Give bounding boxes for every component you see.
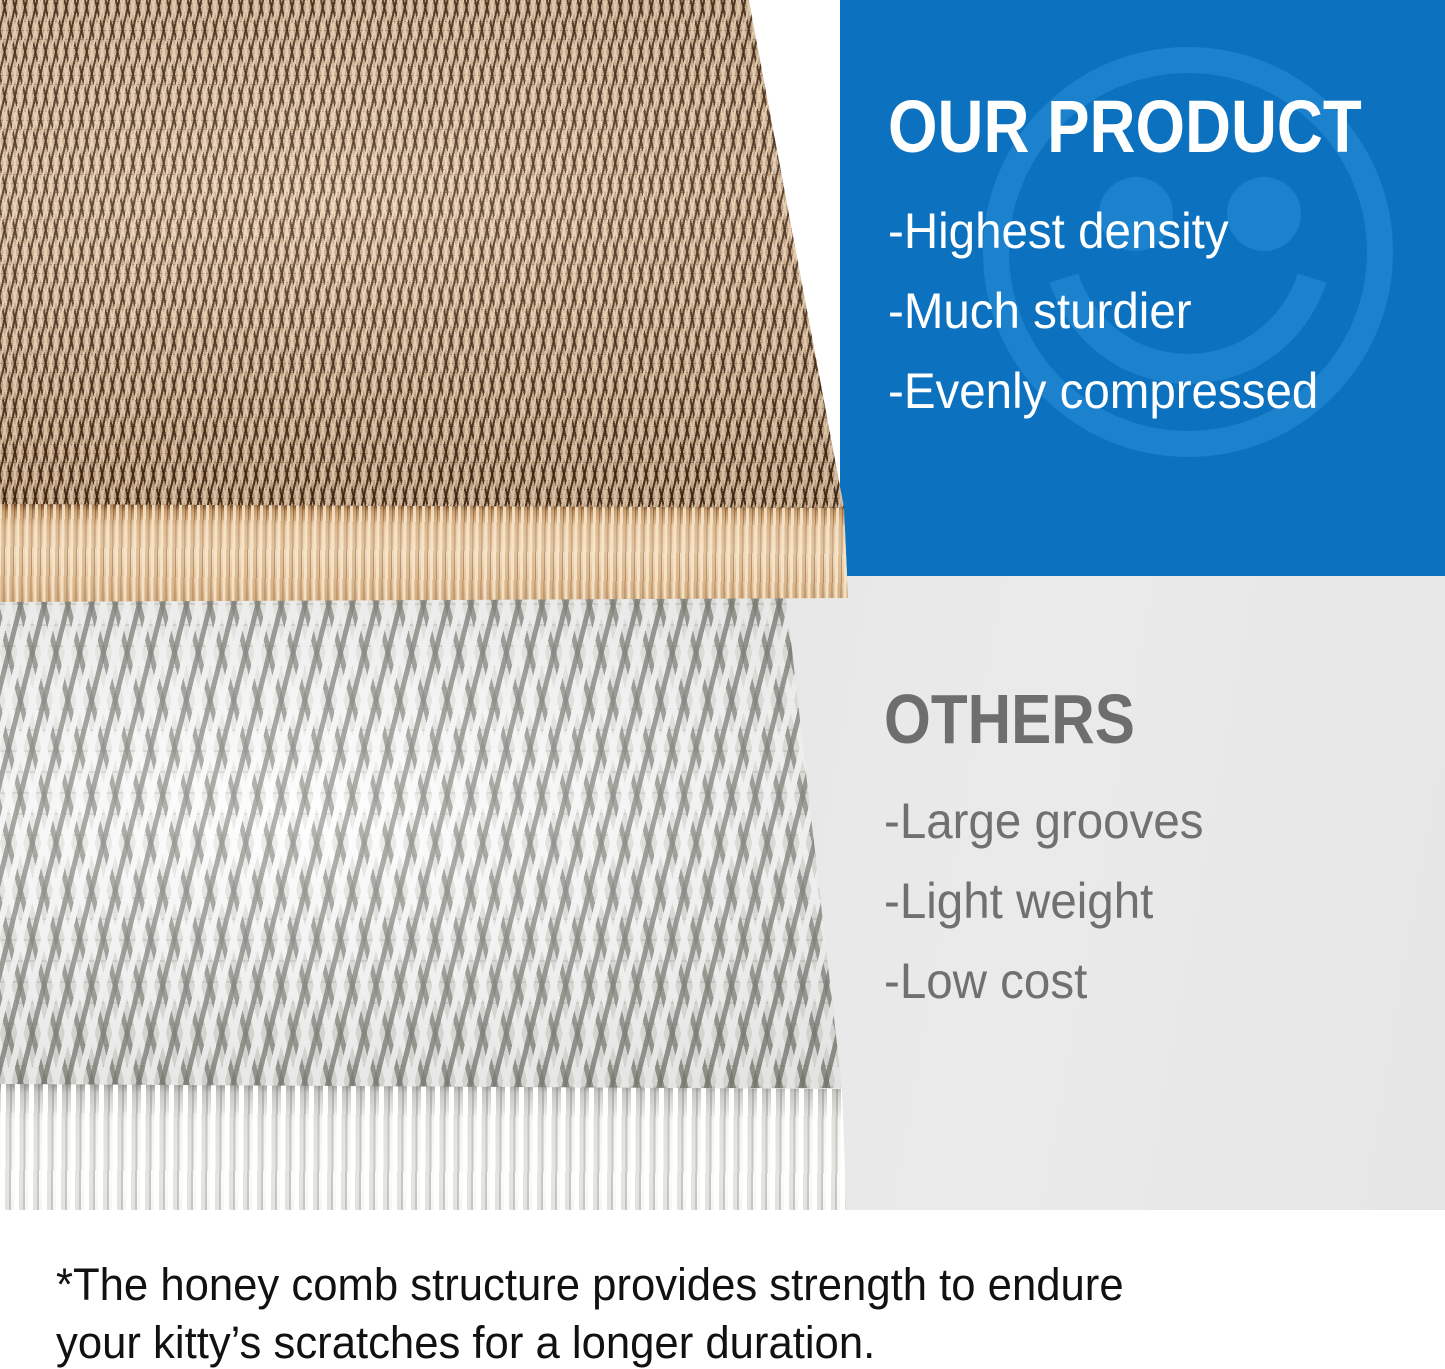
infographic-stage: OUR PRODUCT -Highest density -Much sturd…: [0, 0, 1445, 1369]
others-product-photo: [0, 598, 856, 1274]
our-product-bullet-1: -Highest density: [888, 206, 1229, 256]
caption-line-1: *The honey comb structure provides stren…: [56, 1256, 1366, 1314]
others-bullet-1: -Large grooves: [884, 796, 1203, 846]
white-honeycomb-surface: [0, 598, 856, 1088]
our-product-text-block: OUR PRODUCT -Highest density -Much sturd…: [888, 90, 1439, 164]
others-bullet-3: -Low cost: [884, 956, 1087, 1006]
others-text-block: OTHERS -Large grooves -Light weight -Low…: [884, 684, 1176, 754]
our-product-panel: OUR PRODUCT -Highest density -Much sturd…: [840, 0, 1445, 576]
our-product-photo: [0, 0, 852, 606]
footnote-caption: *The honey comb structure provides stren…: [56, 1256, 1366, 1369]
our-product-bullet-2: -Much sturdier: [888, 286, 1192, 336]
tan-corrugated-edge: [0, 504, 852, 602]
our-product-heading: OUR PRODUCT: [888, 90, 1362, 164]
others-heading: OTHERS: [884, 684, 1135, 754]
others-bullet-2: -Light weight: [884, 876, 1153, 926]
our-product-bullet-3: -Evenly compressed: [888, 366, 1318, 416]
tan-honeycomb-surface: [0, 0, 852, 508]
caption-line-2: your kitty’s scratches for a longer dura…: [56, 1314, 1366, 1369]
